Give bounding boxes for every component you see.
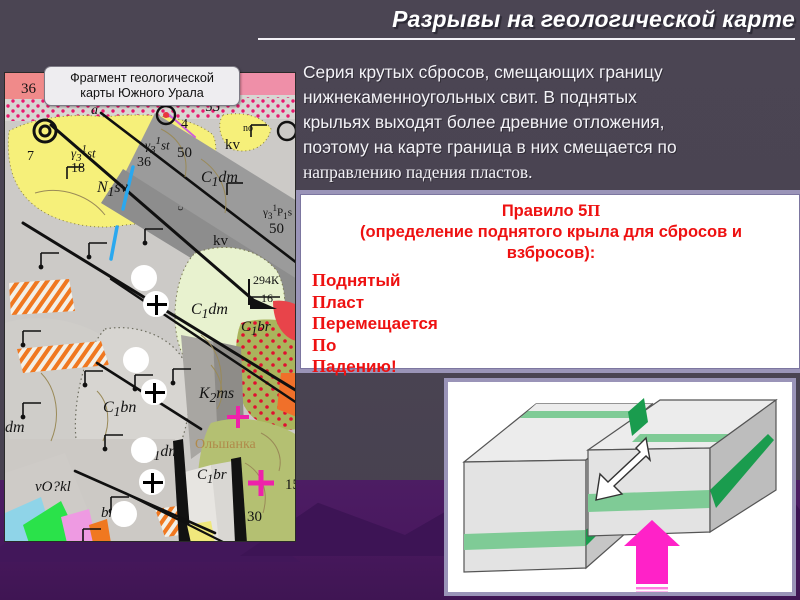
paragraph-line: нижнекаменноугольных свит. В поднятых xyxy=(303,85,795,110)
slide-root: Разрывы на геологической карте Серия кру… xyxy=(0,0,800,600)
rule-item-rest: однятый xyxy=(326,271,400,290)
rule-subheading-line2: взбросов): xyxy=(312,243,790,264)
title-underline xyxy=(258,38,795,40)
fault-block-diagram xyxy=(448,382,792,592)
rule-item-capital: П xyxy=(312,335,326,355)
map-annotation-marker[interactable] xyxy=(131,265,157,291)
map-annotation-marker[interactable] xyxy=(123,347,149,373)
body-paragraph: Серия крутых сбросов, смещающих границу … xyxy=(303,60,795,185)
rule-item-rest: адению! xyxy=(326,357,397,376)
map-annotation-marker[interactable] xyxy=(131,437,157,463)
map-caption-line1: Фрагмент геологической xyxy=(51,71,233,86)
map-annotation-marker-plus[interactable] xyxy=(143,291,169,317)
map-caption-box: Фрагмент геологической карты Южного Урал… xyxy=(44,66,240,106)
rule-item-rest: ласт xyxy=(326,293,364,312)
rule-item: Падению! xyxy=(312,356,790,378)
rule-item-capital: П xyxy=(312,356,326,376)
rule-item: Перемещается xyxy=(312,313,790,335)
rule-heading-suffix: П xyxy=(587,201,600,220)
rule-item-rest: о xyxy=(326,336,336,355)
rule-item-rest: еремещается xyxy=(326,314,438,333)
map-annotation-marker-plus[interactable] xyxy=(141,379,167,405)
block-diagram-box xyxy=(444,378,796,596)
rule-item: По xyxy=(312,335,790,357)
paragraph-line: поэтому на карте граница в них смещается… xyxy=(303,135,795,160)
rule-item: Пласт xyxy=(312,292,790,314)
geological-map-image: 36 a γ31st 18 7 γ31st 36 N1sv 4 55 50 no… xyxy=(4,72,296,542)
rule-item-capital: П xyxy=(312,270,326,290)
paragraph-line: крыльях выходят более древние отложения, xyxy=(303,110,795,135)
rule-items-list: Поднятый Пласт Перемещается По Падению! xyxy=(312,270,790,378)
map-annotation-marker[interactable] xyxy=(111,501,137,527)
page-title: Разрывы на геологической карте xyxy=(250,6,795,33)
paragraph-line: Серия крутых сбросов, смещающих границу xyxy=(303,60,795,85)
rule-heading-prefix: Правило xyxy=(502,202,578,220)
rule-item: Поднятый xyxy=(312,270,790,292)
rule-heading: Правило 5П xyxy=(312,200,790,222)
rule-subheading-line1: (определение поднятого крыла для сбросов… xyxy=(312,222,790,243)
rule-item-capital: П xyxy=(312,292,326,312)
map-caption-line2: карты Южного Урала xyxy=(51,86,233,101)
rule-heading-number: 5 xyxy=(578,202,587,220)
paragraph-line: направлению падения пластов. xyxy=(303,160,795,185)
rule-item-capital: П xyxy=(312,313,326,333)
map-annotation-marker-plus[interactable] xyxy=(139,469,165,495)
rule-callout-box: Правило 5П (определение поднятого крыла … xyxy=(296,190,800,373)
